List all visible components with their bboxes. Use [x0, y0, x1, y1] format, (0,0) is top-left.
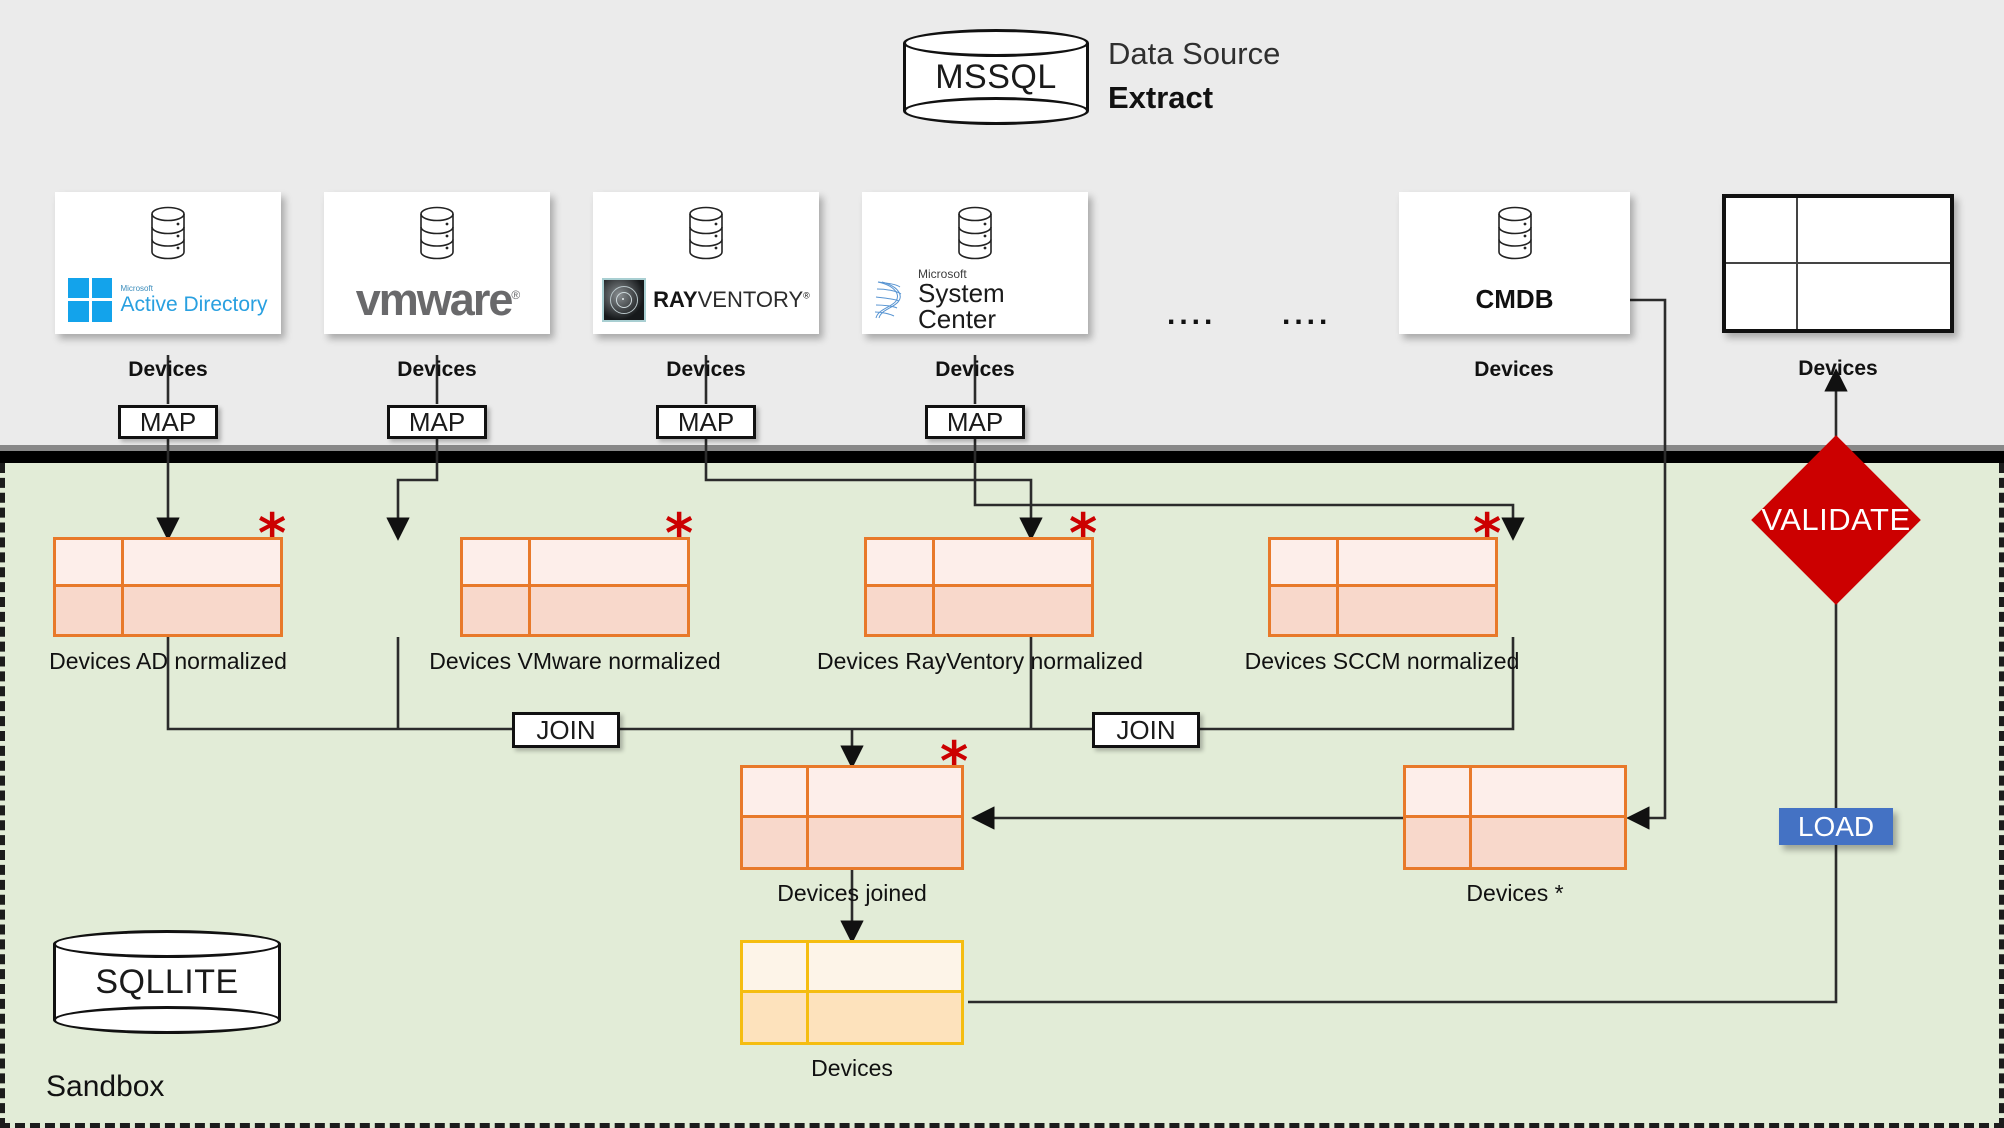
vmware-logo: vmware® — [324, 265, 550, 334]
cmdb-logo: CMDB — [1399, 265, 1630, 334]
datasource-cylinder: MSSQL — [903, 29, 1089, 125]
required-asterisk-sccm: * — [1473, 507, 1501, 561]
sandbox-label: Sandbox — [46, 1070, 164, 1104]
map-box-vmware[interactable]: MAP — [387, 405, 487, 439]
map-box-ad[interactable]: MAP — [118, 405, 218, 439]
required-asterisk-vmware: * — [665, 507, 693, 561]
target-devices-table-label: Devices — [1738, 357, 1938, 381]
join-box-left[interactable]: JOIN — [512, 712, 620, 748]
join-box-right[interactable]: JOIN — [1092, 712, 1200, 748]
table-cell — [1472, 818, 1624, 868]
table-cell — [1339, 587, 1495, 634]
validate-label: VALIDATE — [1741, 490, 1931, 550]
table-cell — [743, 768, 809, 818]
database-cylinder-icon — [686, 206, 726, 265]
sccm-brand: System Center — [918, 278, 1005, 334]
table-devices-cmdb[interactable] — [1403, 765, 1627, 870]
windows-icon — [68, 278, 112, 322]
source-entity-vmware: Devices — [357, 358, 517, 382]
radar-icon — [602, 278, 646, 322]
system-center-mark-icon — [870, 279, 910, 321]
table-cell — [1271, 587, 1339, 634]
table-cell — [935, 587, 1091, 634]
table-cell — [1798, 264, 1950, 330]
source-card-vmware[interactable]: vmware® — [324, 192, 550, 334]
required-asterisk-ad: * — [258, 507, 286, 561]
etl-diagram: MSSQL Data Source Extract Microsoft Acti… — [0, 0, 2004, 1128]
target-devices-table[interactable] — [1722, 194, 1954, 333]
ellipsis-2: .... — [1282, 300, 1331, 330]
source-card-sccm[interactable]: Microsoft System Center — [862, 192, 1088, 334]
table-cell — [1798, 198, 1950, 264]
map-box-sccm[interactable]: MAP — [925, 405, 1025, 439]
required-asterisk-joined: * — [940, 735, 968, 789]
source-entity-ad: Devices — [88, 358, 248, 382]
table-cell — [124, 540, 280, 587]
table-cell — [809, 993, 961, 1043]
table-cell — [1271, 540, 1339, 587]
table-devices-ad-normalized[interactable] — [53, 537, 283, 637]
source-entity-cmdb: Devices — [1434, 358, 1594, 382]
table-cell — [809, 768, 961, 818]
table-devices-sccm-normalized[interactable] — [1268, 537, 1498, 637]
ad-brand: Active Directory — [120, 293, 267, 316]
rayventory-logo: RAYVENTORY® — [593, 265, 819, 334]
table-cell — [743, 943, 809, 993]
rayventory-bold: RAY — [653, 287, 697, 312]
table-devices-vmware-normalized[interactable] — [460, 537, 690, 637]
database-cylinder-icon — [955, 206, 995, 265]
table-cell — [56, 540, 124, 587]
table-cell — [531, 540, 687, 587]
label-devices-cmdb: Devices * — [1405, 880, 1625, 907]
sandbox-db-name: SQLLITE — [53, 930, 281, 1034]
ad-brand-small: Microsoft — [120, 285, 267, 293]
table-cell — [1726, 264, 1798, 330]
vmware-wordmark: vmware — [356, 274, 512, 325]
table-cell — [56, 587, 124, 634]
source-card-ad[interactable]: Microsoft Active Directory — [55, 192, 281, 334]
source-entity-sccm: Devices — [895, 358, 1055, 382]
table-cell — [1726, 198, 1798, 264]
required-asterisk-rayventory: * — [1069, 507, 1097, 561]
table-cell — [867, 540, 935, 587]
ellipsis-1: .... — [1167, 300, 1216, 330]
label-devices-ad-normalized: Devices AD normalized — [18, 648, 318, 675]
label-devices-rayventory-normalized: Devices RayVentory normalized — [810, 648, 1150, 675]
table-cell — [531, 587, 687, 634]
datasource-kind-label: Data Source — [1108, 36, 1280, 72]
label-devices-vmware-normalized: Devices VMware normalized — [420, 648, 730, 675]
table-cell — [1339, 540, 1495, 587]
table-cell — [1406, 818, 1472, 868]
load-box[interactable]: LOAD — [1779, 808, 1893, 845]
map-box-rayventory[interactable]: MAP — [656, 405, 756, 439]
datasource-name: MSSQL — [903, 29, 1089, 125]
table-cell — [743, 993, 809, 1043]
table-cell — [463, 587, 531, 634]
table-cell — [124, 587, 280, 634]
database-cylinder-icon — [1495, 206, 1535, 265]
database-cylinder-icon — [417, 206, 457, 265]
source-card-rayventory[interactable]: RAYVENTORY® — [593, 192, 819, 334]
database-cylinder-icon — [148, 206, 188, 265]
active-directory-logo: Microsoft Active Directory — [55, 265, 281, 334]
source-entity-rayventory: Devices — [626, 358, 786, 382]
rayventory-light: VENTORY — [698, 287, 804, 312]
table-devices-rayventory-normalized[interactable] — [864, 537, 1094, 637]
table-cell — [867, 587, 935, 634]
table-devices-output[interactable] — [740, 940, 964, 1045]
label-devices-output: Devices — [742, 1055, 962, 1082]
label-devices-sccm-normalized: Devices SCCM normalized — [1232, 648, 1532, 675]
table-devices-joined[interactable] — [740, 765, 964, 870]
label-devices-joined: Devices joined — [742, 880, 962, 907]
table-cell — [935, 540, 1091, 587]
table-cell — [809, 818, 961, 868]
table-cell — [463, 540, 531, 587]
table-cell — [743, 818, 809, 868]
cmdb-wordmark: CMDB — [1476, 284, 1554, 315]
system-center-logo: Microsoft System Center — [862, 265, 1088, 334]
sandbox-db-cylinder: SQLLITE — [53, 930, 281, 1034]
source-card-cmdb[interactable]: CMDB — [1399, 192, 1630, 334]
table-cell — [1406, 768, 1472, 818]
extract-stage-label: Extract — [1108, 80, 1213, 116]
table-cell — [1472, 768, 1624, 818]
table-cell — [809, 943, 961, 993]
